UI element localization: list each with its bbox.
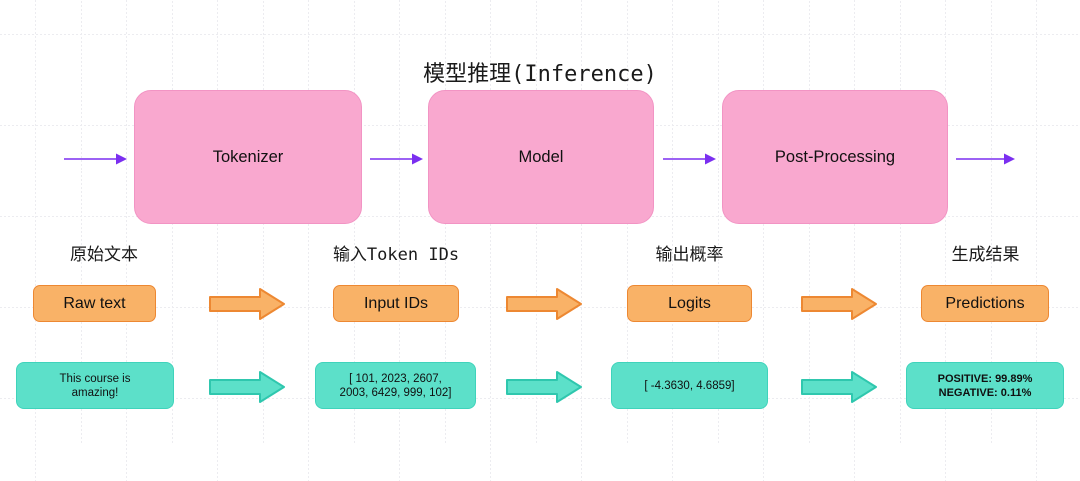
example-line: [ -4.3630, 4.6859] [644, 379, 734, 393]
arrow-out-of-postprocessing-icon [956, 150, 1016, 168]
example-box-raw-text[interactable]: This course is amazing! [16, 362, 174, 409]
example-line: This course is [60, 372, 131, 386]
stage-label: Post-Processing [775, 148, 895, 167]
example-line: amazing! [72, 386, 119, 400]
stage-box-model[interactable]: Model [428, 90, 654, 224]
stage-label: Tokenizer [213, 148, 284, 167]
example-box-predictions[interactable]: POSITIVE: 99.89% NEGATIVE: 0.11% [906, 362, 1064, 409]
artifact-box-input-ids[interactable]: Input IDs [333, 285, 459, 322]
orange-arrow-3-icon [800, 287, 878, 321]
caption-generated-result: 生成结果 [908, 240, 1063, 265]
example-line: [ 101, 2023, 2607, [349, 372, 442, 386]
artifact-box-predictions[interactable]: Predictions [921, 285, 1049, 322]
example-line: NEGATIVE: 0.11% [939, 386, 1032, 400]
artifact-label: Raw text [63, 295, 125, 313]
stage-label: Model [519, 148, 564, 167]
artifact-label: Logits [668, 295, 711, 313]
artifact-box-logits[interactable]: Logits [627, 285, 752, 322]
arrow-model-to-postprocessing-icon [663, 150, 717, 168]
example-line: POSITIVE: 99.89% [938, 372, 1033, 386]
example-line: 2003, 6429, 999, 102] [340, 386, 452, 400]
example-box-input-ids[interactable]: [ 101, 2023, 2607, 2003, 6429, 999, 102] [315, 362, 476, 409]
stage-box-post-processing[interactable]: Post-Processing [722, 90, 948, 224]
orange-arrow-2-icon [505, 287, 583, 321]
diagram-title: 模型推理(Inference) [0, 56, 1080, 88]
diagram-canvas: 模型推理(Inference) Tokenizer Model Post-Pro… [0, 0, 1080, 481]
teal-arrow-1-icon [208, 370, 286, 404]
arrow-into-tokenizer-icon [64, 150, 128, 168]
artifact-box-raw-text[interactable]: Raw text [33, 285, 156, 322]
teal-arrow-3-icon [800, 370, 878, 404]
example-box-logits[interactable]: [ -4.3630, 4.6859] [611, 362, 768, 409]
caption-raw-text: 原始文本 [24, 240, 184, 265]
caption-input-token-ids: 输入Token IDs [300, 240, 492, 265]
orange-arrow-1-icon [208, 287, 286, 321]
stage-box-tokenizer[interactable]: Tokenizer [134, 90, 362, 224]
arrow-tokenizer-to-model-icon [370, 150, 424, 168]
artifact-label: Input IDs [364, 295, 428, 313]
artifact-label: Predictions [945, 295, 1024, 313]
caption-output-probabilities: 输出概率 [612, 240, 767, 265]
teal-arrow-2-icon [505, 370, 583, 404]
